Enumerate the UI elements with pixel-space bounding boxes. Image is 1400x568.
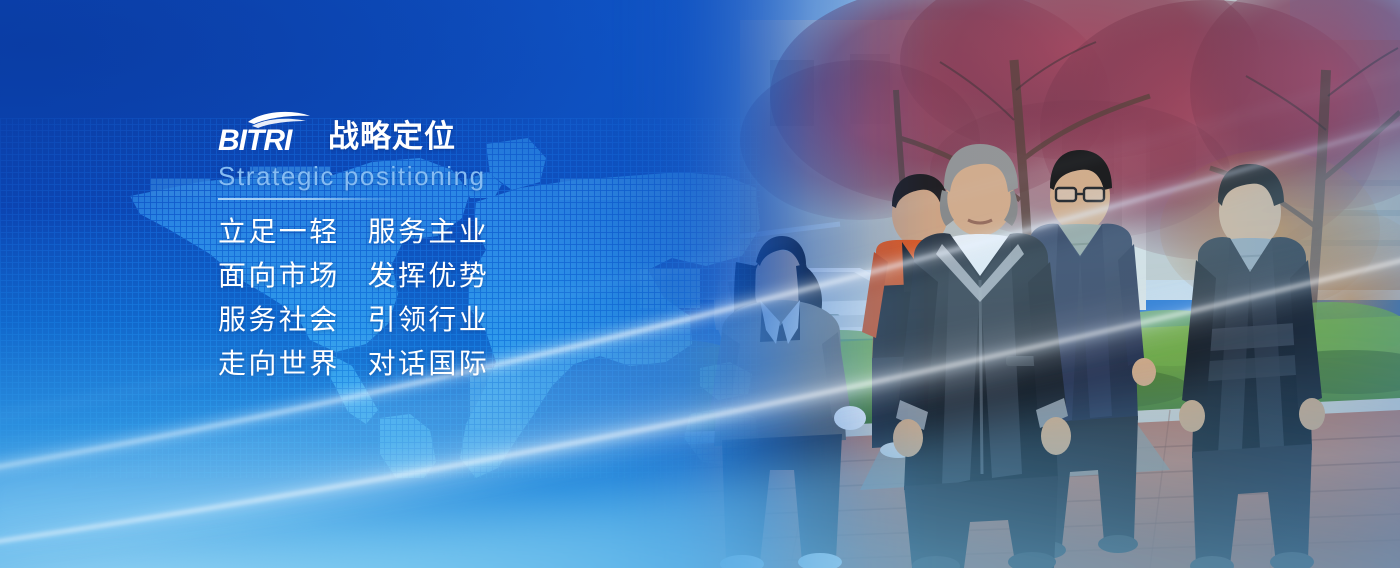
list-item: 走向世界 对话国际 bbox=[218, 350, 688, 378]
page-title: 战略定位 bbox=[328, 121, 456, 154]
bitri-logo: BITRI bbox=[218, 110, 314, 154]
slogan-left: 立足一轻 bbox=[218, 218, 340, 246]
slogan-left: 面向市场 bbox=[218, 262, 340, 290]
list-item: 服务社会 引领行业 bbox=[218, 306, 688, 334]
title-divider bbox=[218, 198, 403, 200]
slogan-right: 引领行业 bbox=[368, 306, 490, 334]
list-item: 立足一轻 服务主业 bbox=[218, 218, 688, 246]
slogan-left: 服务社会 bbox=[218, 306, 340, 334]
slogan-list: 立足一轻 服务主业 面向市场 发挥优势 服务社会 引领行业 走向世界 对话国际 bbox=[218, 218, 688, 378]
slogan-right: 服务主业 bbox=[368, 218, 490, 246]
strategic-positioning-banner: BITRI 战略定位 Strategic positioning 立足一轻 服务… bbox=[0, 0, 1400, 568]
slogan-right: 发挥优势 bbox=[368, 262, 490, 290]
subtitle-english: Strategic positioning bbox=[218, 162, 688, 192]
slogan-left: 走向世界 bbox=[218, 350, 340, 378]
banner-content: BITRI 战略定位 Strategic positioning 立足一轻 服务… bbox=[218, 108, 688, 378]
slogan-right: 对话国际 bbox=[368, 350, 490, 378]
list-item: 面向市场 发挥优势 bbox=[218, 262, 688, 290]
title-row: BITRI 战略定位 bbox=[218, 108, 688, 154]
group-walking-photo bbox=[610, 0, 1400, 568]
bitri-wordmark: BITRI bbox=[218, 124, 293, 154]
swoosh-arc-icon: BITRI bbox=[218, 110, 314, 154]
